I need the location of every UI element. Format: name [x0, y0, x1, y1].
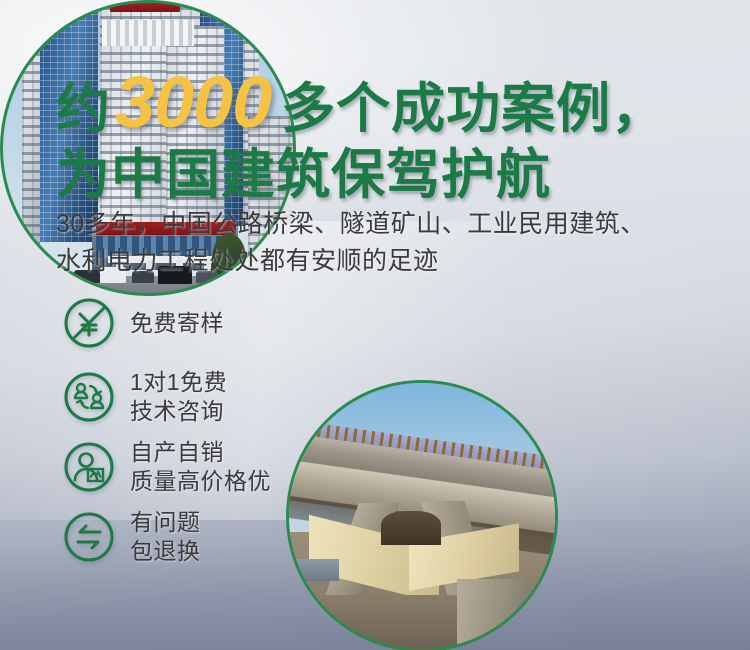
- feature-item-consultation[interactable]: 1对1免费 技术咨询: [62, 368, 271, 426]
- headline-prefix: 约: [56, 78, 111, 140]
- bridge-pier-base: [457, 579, 529, 650]
- self-production-quality-icon: [62, 440, 116, 494]
- feature-text-line: 免费寄样: [130, 309, 224, 338]
- feature-list: 免费寄样 1对1免费 技术咨询: [62, 296, 271, 578]
- subtitle-line-1: 30多年，中国公路桥梁、隧道矿山、工业民用建筑、: [56, 206, 646, 243]
- feature-text: 免费寄样: [130, 309, 224, 338]
- headline-number: 3000: [111, 72, 281, 134]
- bridge-background-structure: [293, 559, 339, 581]
- feature-text-line: 质量高价格优: [130, 467, 271, 496]
- headline-suffix: 多个成功案例，: [281, 78, 666, 140]
- free-sample-no-fee-icon: [62, 296, 116, 350]
- feature-text-line: 有问题: [130, 508, 201, 537]
- feature-text-line: 技术咨询: [130, 397, 227, 426]
- left-tower-side-facade: [22, 0, 40, 244]
- feature-text: 有问题 包退换: [130, 508, 201, 566]
- feature-item-return-exchange[interactable]: 有问题 包退换: [62, 508, 271, 566]
- rooftop-red-sign: [110, 0, 180, 12]
- feature-text: 1对1免费 技术咨询: [130, 368, 227, 426]
- colonnade-band: [102, 20, 194, 46]
- bridge-photo-scene: [289, 383, 555, 649]
- feature-text: 自产自销 质量高价格优: [130, 438, 271, 496]
- headline-line-2: 为中国建筑保驾护航: [56, 144, 666, 206]
- one-to-one-consult-icon: [62, 370, 116, 424]
- feature-text-line: 自产自销: [130, 438, 271, 467]
- feature-text-line: 1对1免费: [130, 368, 227, 397]
- subtitle-line-2: 水利电力工程处处都有安顺的足迹: [56, 243, 646, 280]
- bridge-span-opening: [381, 511, 441, 545]
- feature-text-line: 包退换: [130, 537, 201, 566]
- promo-banner: 约 3000 多个成功案例， 为中国建筑保驾护航 30多年，中国公路桥梁、隧道矿…: [0, 0, 750, 650]
- bridge-photo: [286, 380, 558, 650]
- feature-item-free-sample[interactable]: 免费寄样: [62, 296, 271, 350]
- headline: 约 3000 多个成功案例， 为中国建筑保驾护航: [56, 72, 666, 206]
- tower-window-grid: [22, 0, 40, 244]
- return-exchange-icon: [62, 510, 116, 564]
- subtitle: 30多年，中国公路桥梁、隧道矿山、工业民用建筑、 水利电力工程处处都有安顺的足迹: [56, 206, 646, 280]
- feature-item-self-production[interactable]: 自产自销 质量高价格优: [62, 438, 271, 496]
- headline-line-1: 约 3000 多个成功案例，: [56, 72, 666, 140]
